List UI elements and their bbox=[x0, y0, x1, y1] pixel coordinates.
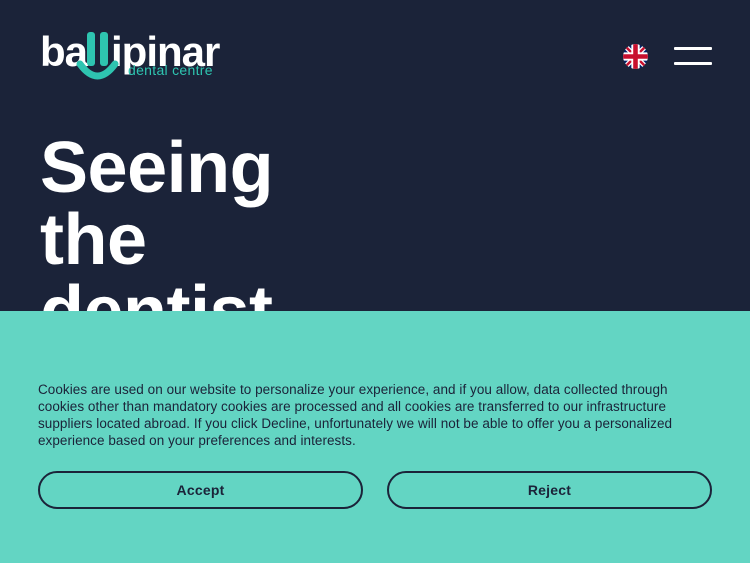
reject-button[interactable]: Reject bbox=[387, 471, 712, 509]
cookie-consent-banner: Cookies are used on our website to perso… bbox=[0, 311, 750, 563]
accept-button[interactable]: Accept bbox=[38, 471, 363, 509]
uk-flag-icon[interactable] bbox=[623, 44, 648, 69]
burger-line-bottom bbox=[674, 62, 712, 65]
site-logo[interactable]: ba ipinar dental centre bbox=[40, 26, 240, 86]
cookie-consent-actions: Accept Reject bbox=[38, 471, 712, 509]
logo-tagline: dental centre bbox=[128, 62, 248, 78]
logo-smile-icon bbox=[80, 64, 115, 76]
page-root: ba ipinar dental centre bbox=[0, 0, 750, 563]
site-header: ba ipinar dental centre bbox=[0, 0, 750, 112]
cookie-consent-message: Cookies are used on our website to perso… bbox=[38, 381, 712, 449]
header-actions bbox=[623, 44, 712, 69]
logo-tagline-text: dental centre bbox=[128, 62, 213, 78]
logo-bar-left bbox=[87, 32, 95, 66]
burger-line-top bbox=[674, 47, 712, 50]
hamburger-menu-icon[interactable] bbox=[674, 44, 712, 68]
logo-bar-right bbox=[100, 32, 108, 66]
